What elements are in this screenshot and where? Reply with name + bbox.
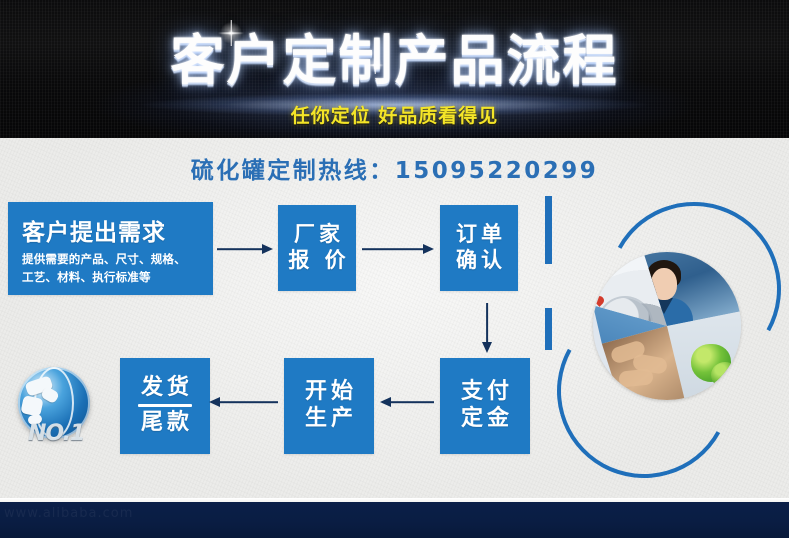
arrow-right-icon	[362, 243, 434, 255]
globe-landmass	[20, 395, 43, 417]
flow-step-produce[interactable]: 开始 生产	[284, 358, 374, 454]
flow-step-quote-line2: 报 价	[284, 248, 349, 274]
flow-step-quote-line1: 厂家	[290, 222, 344, 248]
arrow-right-icon	[217, 243, 273, 255]
map-pin-icon	[593, 294, 606, 307]
page-subtitle: 任你定位 好品质看得见	[0, 101, 789, 128]
header-banner: 客户定制产品流程 任你定位 好品质看得见	[0, 0, 789, 138]
flow-step-request-title: 客户提出需求	[22, 219, 166, 247]
arrow-left-icon	[380, 396, 434, 408]
footer-strip: www.alibaba.com	[0, 502, 789, 538]
footer-watermark: www.alibaba.com	[4, 506, 133, 521]
flow-step-produce-line1: 开始	[301, 379, 357, 406]
circular-photo-montage	[593, 252, 741, 400]
flow-step-ship-divider	[138, 404, 192, 407]
flow-step-produce-line2: 生产	[301, 406, 357, 433]
hotline-text: 硫化罐定制热线：15095220299	[0, 151, 789, 185]
business-collage-graphic	[545, 196, 789, 468]
decor-bar-icon	[545, 196, 552, 264]
flow-step-quote[interactable]: 厂家 报 价	[278, 205, 356, 291]
flow-step-request-sub-line1: 提供需要的产品、尺寸、规格、	[22, 251, 186, 269]
decor-bar-icon	[545, 308, 552, 350]
rank-label: NO.1	[28, 421, 104, 446]
flow-step-ship[interactable]: 发货 尾款	[120, 358, 210, 454]
arrow-down-icon	[481, 303, 493, 353]
page-title: 客户定制产品流程	[0, 16, 789, 95]
flow-step-deposit-line1: 支付	[457, 379, 513, 406]
flow-step-deposit[interactable]: 支付 定金	[440, 358, 530, 454]
flow-step-request[interactable]: 客户提出需求 提供需要的产品、尺寸、规格、 工艺、材料、执行标准等	[8, 202, 213, 295]
flow-step-order-line1: 订单	[452, 222, 506, 248]
globe-no1-logo: NO.1	[8, 363, 100, 455]
hand-shape	[618, 368, 653, 387]
flow-step-order-line2: 确认	[452, 248, 506, 274]
flow-step-ship-line1: 发货	[137, 375, 193, 402]
page-root: 客户定制产品流程 任你定位 好品质看得见 硫化罐定制热线：15095220299…	[0, 0, 789, 538]
flow-step-ship-line2: 尾款	[137, 410, 193, 437]
flow-step-order[interactable]: 订单 确认	[440, 205, 518, 291]
green-apple-icon	[711, 362, 739, 388]
flow-step-deposit-line2: 定金	[457, 406, 513, 433]
arrow-left-icon	[209, 396, 278, 408]
flow-step-request-sub-line2: 工艺、材料、执行标准等	[22, 269, 151, 287]
